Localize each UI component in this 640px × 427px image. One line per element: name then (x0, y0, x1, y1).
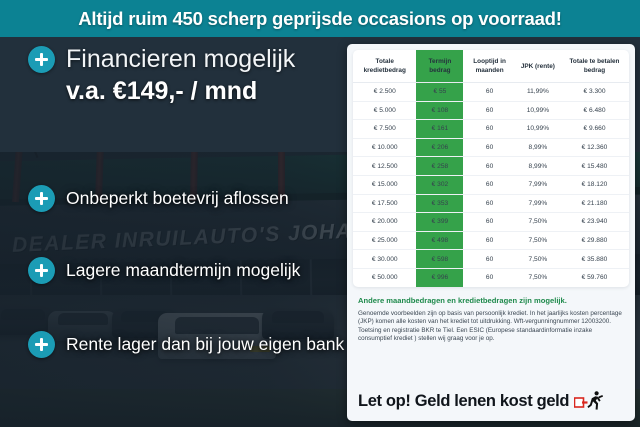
cell-termijnbedrag: € 108 (416, 101, 463, 120)
table-row: € 50.000 € 996 60 7,50% € 59.760 (353, 268, 629, 286)
cell-termijnbedrag: € 258 (416, 157, 463, 176)
cell-totaal: € 18.120 (560, 175, 629, 194)
column-header-looptijd: Looptijd in maanden (463, 50, 515, 83)
table-row: € 25.000 € 498 60 7,50% € 29.880 (353, 231, 629, 250)
table-row: € 17.500 € 353 60 7,99% € 21.180 (353, 194, 629, 213)
cell-jpk: 8,99% (516, 138, 560, 157)
cell-looptijd: 60 (463, 194, 515, 213)
feature-label: Onbeperkt boetevrij aflossen (66, 188, 289, 209)
cell-termijnbedrag: € 161 (416, 120, 463, 139)
afm-running-man-icon (574, 390, 604, 412)
plus-circle-icon (28, 257, 55, 284)
cell-kredietbedrag: € 10.000 (353, 138, 416, 157)
cell-kredietbedrag: € 5.000 (353, 101, 416, 120)
cell-jpk: 7,99% (516, 175, 560, 194)
cell-termijnbedrag: € 55 (416, 83, 463, 102)
cell-looptijd: 60 (463, 268, 515, 286)
plus-circle-icon (28, 46, 55, 73)
disclaimer-title: Andere maandbedragen en kredietbedragen … (358, 296, 624, 306)
cell-termijnbedrag: € 353 (416, 194, 463, 213)
cell-termijnbedrag: € 598 (416, 250, 463, 269)
cell-kredietbedrag: € 25.000 (353, 231, 416, 250)
cell-totaal: € 21.180 (560, 194, 629, 213)
cell-jpk: 7,50% (516, 231, 560, 250)
cell-looptijd: 60 (463, 157, 515, 176)
cell-kredietbedrag: € 17.500 (353, 194, 416, 213)
top-banner: Altijd ruim 450 scherp geprijsde occasio… (0, 0, 640, 37)
cell-jpk: 7,99% (516, 194, 560, 213)
credit-warning: Let op! Geld lenen kost geld (347, 390, 635, 421)
cell-totaal: € 12.360 (560, 138, 629, 157)
cell-looptijd: 60 (463, 138, 515, 157)
cell-totaal: € 9.660 (560, 120, 629, 139)
cell-looptijd: 60 (463, 101, 515, 120)
cell-jpk: 11,99% (516, 83, 560, 102)
column-header-termijnbedrag: Termijn bedrag (416, 50, 463, 83)
feature-item-lagere-rente: Rente lager dan bij jouw eigen bank (28, 331, 344, 358)
cell-termijnbedrag: € 206 (416, 138, 463, 157)
plus-circle-icon (28, 331, 55, 358)
table-row: € 7.500 € 161 60 10,99% € 9.660 (353, 120, 629, 139)
cell-totaal: € 59.760 (560, 268, 629, 286)
feature-label: Rente lager dan bij jouw eigen bank (66, 334, 344, 355)
cell-looptijd: 60 (463, 120, 515, 139)
cell-looptijd: 60 (463, 175, 515, 194)
cell-kredietbedrag: € 15.000 (353, 175, 416, 194)
warning-text: Let op! Geld lenen kost geld (358, 392, 569, 411)
features-column: Financieren mogelijk v.a. €149,- / mnd O… (0, 37, 348, 427)
table-row: € 10.000 € 206 60 8,99% € 12.360 (353, 138, 629, 157)
cell-termijnbedrag: € 302 (416, 175, 463, 194)
table-row: € 2.500 € 55 60 11,99% € 3.300 (353, 83, 629, 102)
column-header-totale-bedrag: Totale te betalen bedrag (560, 50, 629, 83)
plus-circle-icon (28, 185, 55, 212)
advertisement-banner: DEALER INRUILAUTO'S JOHAN MEURE ALTIJD 4… (0, 0, 640, 427)
column-header-kredietbedrag: Totale kredietbedrag (353, 50, 416, 83)
table-row: € 12.500 € 258 60 8,99% € 15.480 (353, 157, 629, 176)
cell-totaal: € 29.880 (560, 231, 629, 250)
cell-kredietbedrag: € 20.000 (353, 213, 416, 232)
headline-row: Financieren mogelijk (28, 44, 344, 74)
cell-kredietbedrag: € 12.500 (353, 157, 416, 176)
cell-jpk: 7,50% (516, 213, 560, 232)
column-header-jpk: JPK (rente) (516, 50, 560, 83)
cell-kredietbedrag: € 2.500 (353, 83, 416, 102)
feature-item-boetevrij-aflossen: Onbeperkt boetevrij aflossen (28, 185, 289, 212)
table-row: € 5.000 € 108 60 10,99% € 6.480 (353, 101, 629, 120)
cell-kredietbedrag: € 7.500 (353, 120, 416, 139)
cell-kredietbedrag: € 50.000 (353, 268, 416, 286)
disclaimer-section: Andere maandbedragen en kredietbedragen … (347, 287, 635, 344)
table-row: € 30.000 € 598 60 7,50% € 35.880 (353, 250, 629, 269)
table-header-row: Totale kredietbedrag Termijn bedrag Loop… (353, 50, 629, 83)
cell-looptijd: 60 (463, 231, 515, 250)
headline-line-2: v.a. €149,- / mnd (66, 76, 344, 106)
headline-line-1: Financieren mogelijk (66, 44, 295, 74)
cell-termijnbedrag: € 498 (416, 231, 463, 250)
cell-looptijd: 60 (463, 83, 515, 102)
cell-totaal: € 15.480 (560, 157, 629, 176)
table-row: € 15.000 € 302 60 7,99% € 18.120 (353, 175, 629, 194)
cell-totaal: € 3.300 (560, 83, 629, 102)
rates-table-body: € 2.500 € 55 60 11,99% € 3.300 € 5.000 €… (353, 83, 629, 287)
cell-kredietbedrag: € 30.000 (353, 250, 416, 269)
rates-table-container: Totale kredietbedrag Termijn bedrag Loop… (353, 50, 629, 287)
cell-jpk: 10,99% (516, 101, 560, 120)
rates-table: Totale kredietbedrag Termijn bedrag Loop… (353, 50, 629, 287)
cell-termijnbedrag: € 996 (416, 268, 463, 286)
rates-card: Totale kredietbedrag Termijn bedrag Loop… (347, 44, 635, 421)
cell-totaal: € 23.940 (560, 213, 629, 232)
feature-item-lagere-maandtermijn: Lagere maandtermijn mogelijk (28, 257, 300, 284)
cell-jpk: 8,99% (516, 157, 560, 176)
disclaimer-body: Genoemde voorbeelden zijn op basis van p… (358, 310, 624, 344)
cell-termijnbedrag: € 399 (416, 213, 463, 232)
cell-jpk: 7,50% (516, 268, 560, 286)
cell-totaal: € 6.480 (560, 101, 629, 120)
cell-jpk: 10,99% (516, 120, 560, 139)
cell-totaal: € 35.880 (560, 250, 629, 269)
cell-looptijd: 60 (463, 250, 515, 269)
table-row: € 20.000 € 399 60 7,50% € 23.940 (353, 213, 629, 232)
cell-jpk: 7,50% (516, 250, 560, 269)
feature-label: Lagere maandtermijn mogelijk (66, 260, 300, 281)
headline-block: Financieren mogelijk v.a. €149,- / mnd (28, 44, 344, 106)
banner-headline: Altijd ruim 450 scherp geprijsde occasio… (78, 8, 562, 30)
cell-looptijd: 60 (463, 213, 515, 232)
